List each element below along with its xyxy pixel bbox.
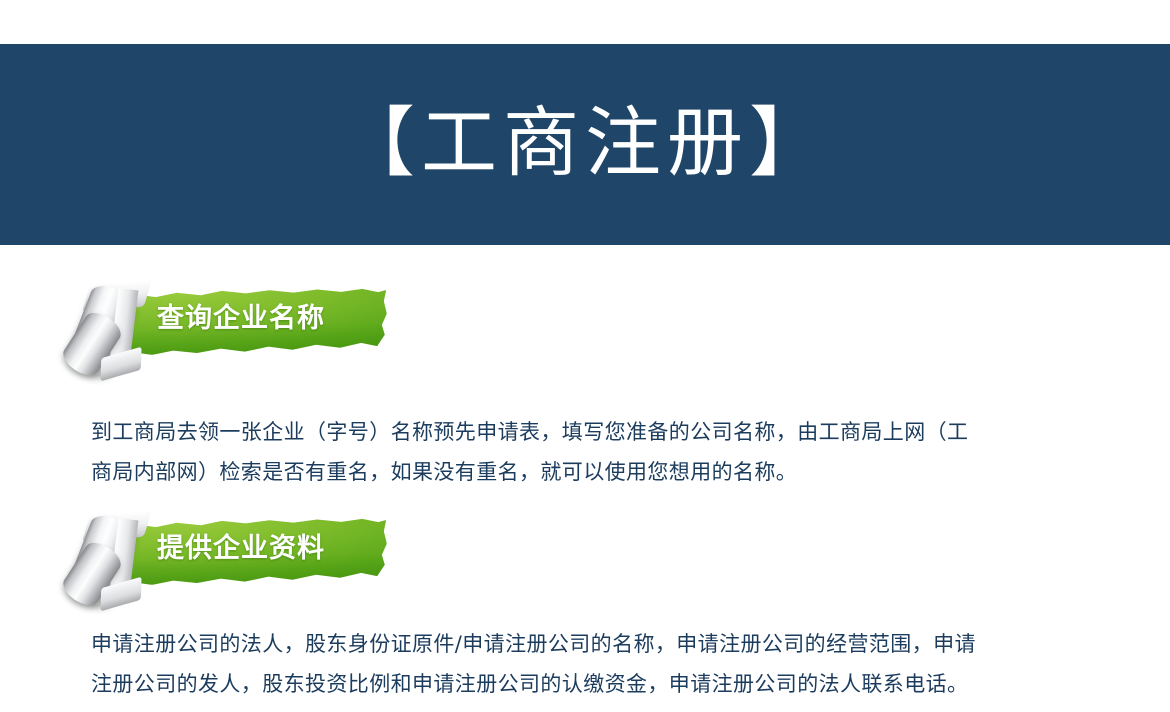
page-banner: 【工商注册】 (0, 44, 1170, 245)
page-title: 【工商注册】 (339, 105, 831, 181)
paragraph-line: 注册公司的发人，股东投资比例和申请注册公司的认缴资金，申请注册公司的法人联系电话… (91, 664, 1071, 704)
paragraph-line: 商局内部网）检索是否有重名，如果没有重名，就可以使用您想用的名称。 (91, 452, 1071, 492)
paragraph-line: 申请注册公司的法人，股东身份证原件/申请注册公司的名称，申请注册公司的经营范围，… (91, 624, 1071, 664)
badge-provide-company-materials: 提供企业资料 (62, 513, 387, 613)
section-query-company-name: 查询企业名称 (0, 283, 1170, 383)
paper-curl-roll-secondary (58, 537, 125, 611)
paragraph-query-company-name: 到工商局去领一张企业（字号）名称预先申请表，填写您准备的公司名称，由工商局上网（… (91, 412, 1071, 492)
paper-curl-roll-secondary (58, 307, 125, 381)
badge-query-company-name: 查询企业名称 (62, 283, 387, 383)
paragraph-provide-company-materials: 申请注册公司的法人，股东身份证原件/申请注册公司的名称，申请注册公司的经营范围，… (91, 624, 1071, 704)
section-provide-company-materials: 提供企业资料 (0, 513, 1170, 613)
badge-label: 查询企业名称 (157, 296, 387, 342)
paragraph-line: 到工商局去领一张企业（字号）名称预先申请表，填写您准备的公司名称，由工商局上网（… (91, 412, 1071, 452)
badge-label: 提供企业资料 (157, 526, 387, 572)
